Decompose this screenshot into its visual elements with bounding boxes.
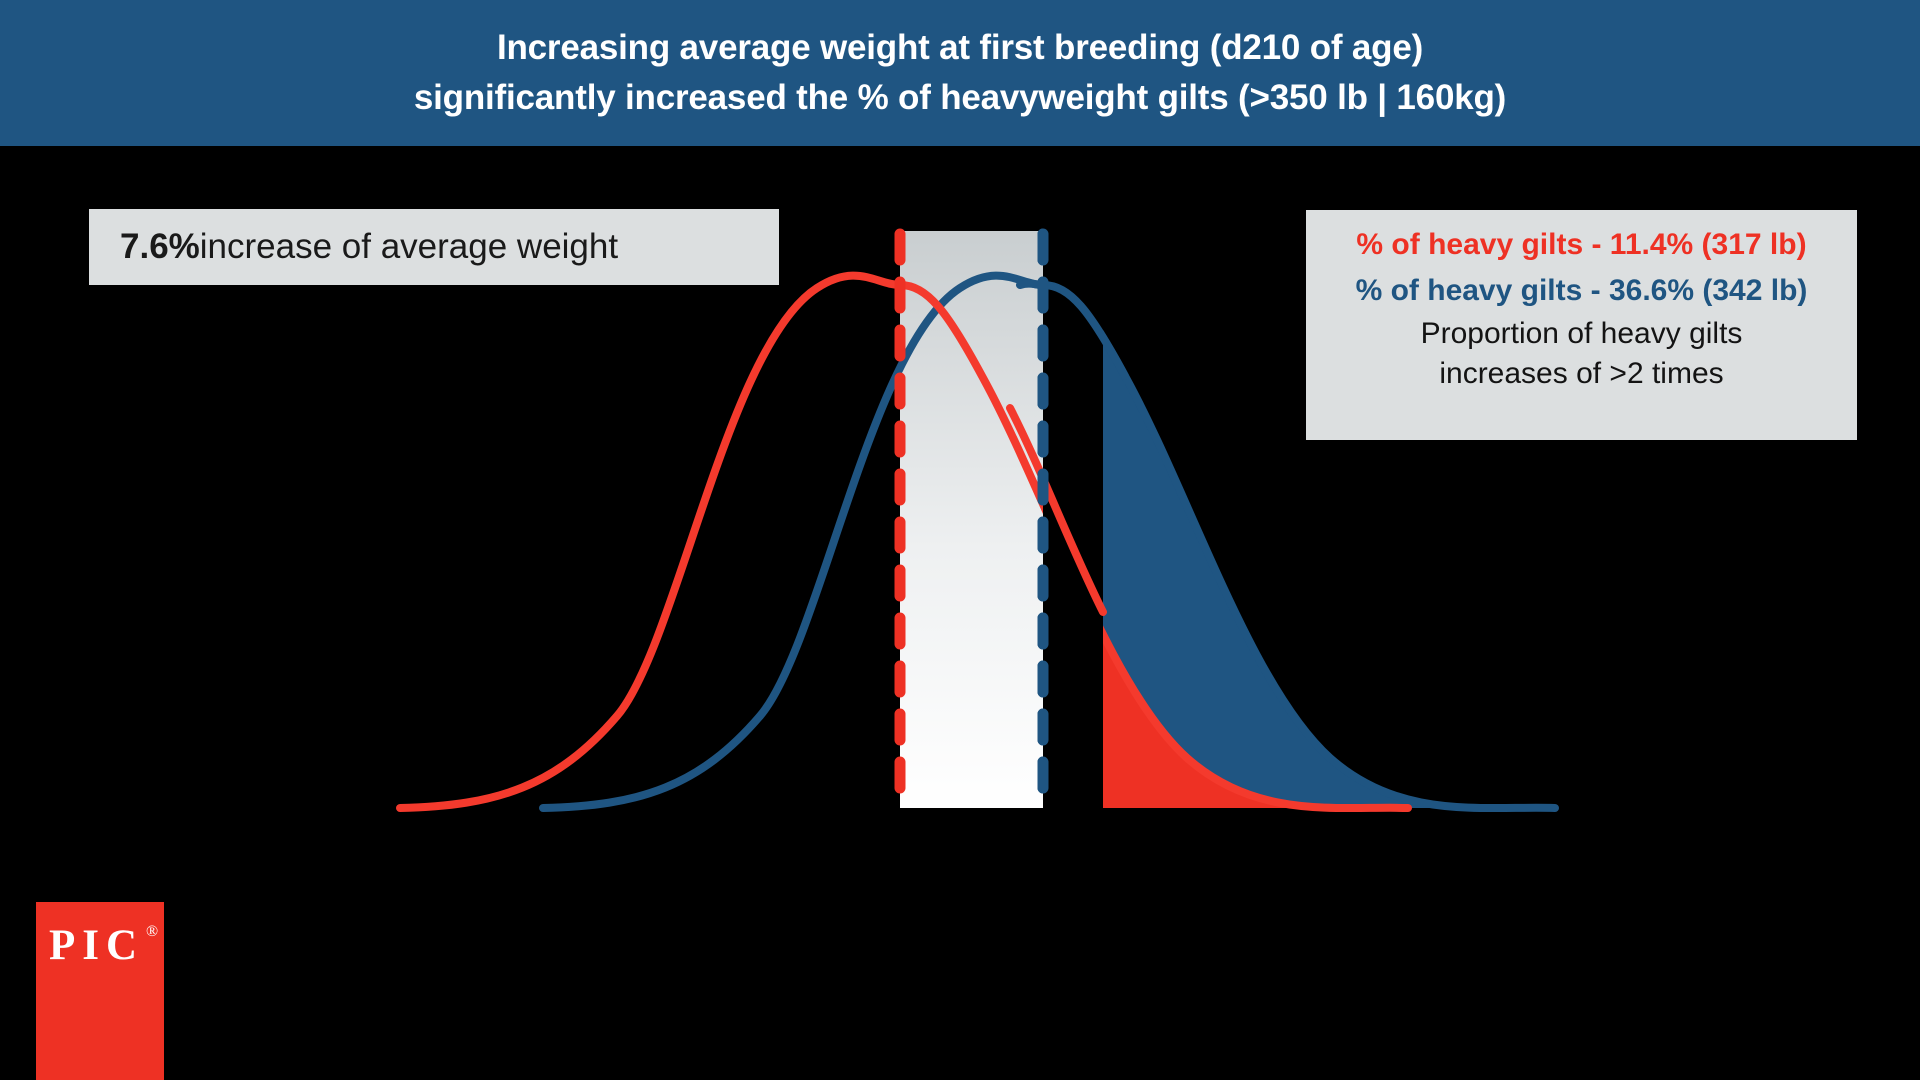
average-weight-increase-callout: 7.6% increase of average weight: [89, 209, 779, 285]
title-line-1: Increasing average weight at first breed…: [497, 23, 1423, 73]
title-line-2: significantly increased the % of heavywe…: [414, 73, 1506, 123]
pic-logo-text: PIC: [49, 924, 144, 967]
title-banner: Increasing average weight at first breed…: [0, 0, 1920, 146]
average-weight-increase-label: increase of average weight: [200, 227, 618, 267]
pic-logo: PIC ®: [36, 902, 164, 1080]
mean-shift-band: [900, 231, 1043, 808]
legend-blue-series-label: % of heavy gilts - 36.6% (342 lb): [1356, 268, 1808, 314]
slide-canvas: Increasing average weight at first breed…: [0, 0, 1920, 1080]
legend-note-line-2: increases of >2 times: [1439, 354, 1723, 394]
heavy-gilts-legend-callout: % of heavy gilts - 11.4% (317 lb) % of h…: [1306, 210, 1857, 440]
average-weight-increase-value: 7.6%: [120, 227, 200, 267]
legend-note-line-1: Proportion of heavy gilts: [1421, 314, 1743, 354]
legend-red-series-label: % of heavy gilts - 11.4% (317 lb): [1356, 222, 1806, 268]
registered-trademark-icon: ®: [146, 924, 158, 940]
